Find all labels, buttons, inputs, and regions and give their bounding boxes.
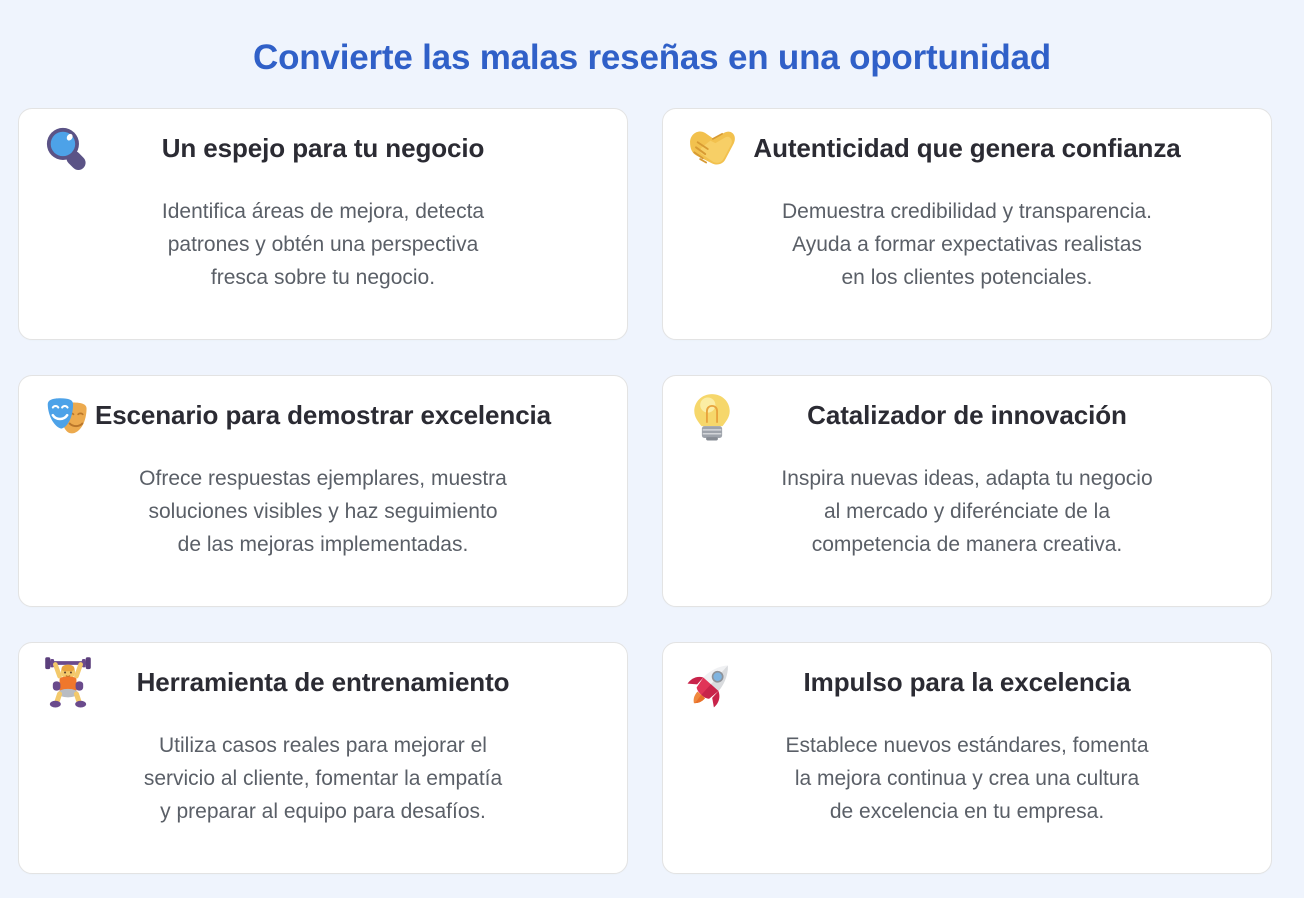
- page-root: Convierte las malas reseñas en una oport…: [0, 0, 1304, 898]
- card-title: Un espejo para tu negocio: [162, 121, 485, 175]
- magnifying-glass-icon: [41, 122, 95, 176]
- light-bulb-icon: [685, 389, 739, 443]
- card-header: Autenticidad que genera confianza: [663, 109, 1271, 183]
- benefit-card-excellence[interactable]: Impulso para la excelencia Establece nue…: [662, 642, 1272, 874]
- page-title: Convierte las malas reseñas en una oport…: [0, 0, 1304, 75]
- benefit-card-innovation[interactable]: Catalizador de innovación Inspira nuevas…: [662, 375, 1272, 607]
- weightlifter-icon: [41, 656, 95, 710]
- card-header: Un espejo para tu negocio: [19, 109, 627, 183]
- card-description: Utiliza casos reales para mejorar el ser…: [19, 717, 627, 828]
- card-title: Escenario para demostrar excelencia: [95, 388, 551, 442]
- benefit-card-training[interactable]: Herramienta de entrenamiento Utiliza cas…: [18, 642, 628, 874]
- card-description: Identifica áreas de mejora, detecta patr…: [19, 183, 627, 294]
- card-title: Catalizador de innovación: [807, 388, 1127, 442]
- benefit-card-stage[interactable]: Escenario para demostrar excelencia Ofre…: [18, 375, 628, 607]
- card-description: Ofrece respuestas ejemplares, muestra so…: [19, 450, 627, 561]
- benefit-card-mirror[interactable]: Un espejo para tu negocio Identifica áre…: [18, 108, 628, 340]
- handshake-icon: [685, 122, 739, 176]
- card-title: Herramienta de entrenamiento: [137, 655, 510, 709]
- benefits-card-grid: Un espejo para tu negocio Identifica áre…: [0, 108, 1304, 874]
- card-title: Impulso para la excelencia: [804, 655, 1131, 709]
- card-header: Escenario para demostrar excelencia: [19, 376, 627, 450]
- card-title: Autenticidad que genera confianza: [753, 121, 1180, 175]
- card-header: Impulso para la excelencia: [663, 643, 1271, 717]
- card-description: Inspira nuevas ideas, adapta tu negocio …: [663, 450, 1271, 561]
- benefit-card-authenticity[interactable]: Autenticidad que genera confianza Demues…: [662, 108, 1272, 340]
- card-header: Catalizador de innovación: [663, 376, 1271, 450]
- card-description: Demuestra credibilidad y transparencia. …: [663, 183, 1271, 294]
- card-description: Establece nuevos estándares, fomenta la …: [663, 717, 1271, 828]
- card-header: Herramienta de entrenamiento: [19, 643, 627, 717]
- performing-arts-masks-icon: [41, 389, 95, 443]
- rocket-icon: [685, 656, 739, 710]
